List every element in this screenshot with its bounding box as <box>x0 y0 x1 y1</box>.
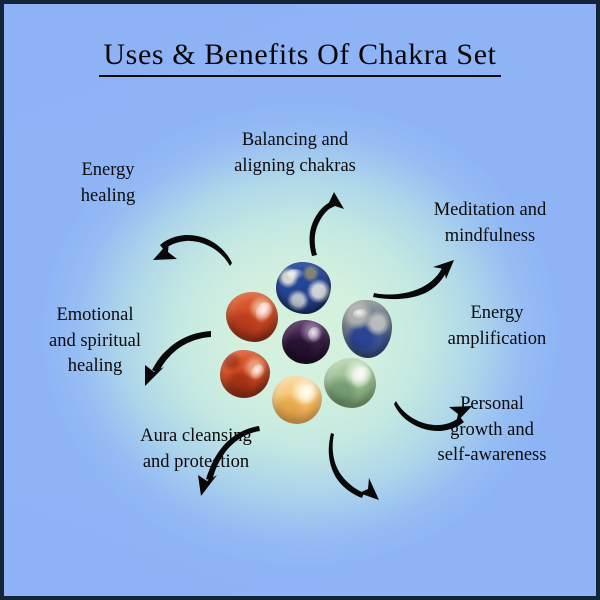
stone-highlight <box>287 269 304 280</box>
stone-highlight <box>248 362 266 383</box>
curved-arrow-up-icon <box>299 192 369 260</box>
lapis-lazuli-stone <box>276 262 331 314</box>
benefit-label-meditation: Meditation and mindfulness <box>397 198 583 249</box>
amethyst-stone <box>282 320 330 364</box>
stone-highlight <box>348 363 374 392</box>
stone-highlight <box>307 326 323 343</box>
page-title-container: Uses & Benefits Of Chakra Set <box>4 38 596 77</box>
chakra-benefits-infographic: Uses & Benefits Of Chakra Set <box>0 0 600 600</box>
benefit-label-emotional-healing: Emotional and spiritual healing <box>16 303 174 380</box>
chakra-stone-cluster <box>204 254 404 434</box>
stone-highlight <box>253 300 275 326</box>
green-aventurine-stone <box>324 358 376 408</box>
red-jasper-stone <box>226 292 278 342</box>
benefit-label-amplification: Energy amplification <box>412 301 582 352</box>
yellow-calcite-stone <box>272 376 322 424</box>
curved-arrow-down-right-icon <box>331 432 393 502</box>
sodalite-stone <box>342 300 392 358</box>
page-title: Uses & Benefits Of Chakra Set <box>99 38 500 77</box>
benefit-label-personal-growth: Personal growth and self-awareness <box>400 392 584 469</box>
benefit-label-energy-healing: Energy healing <box>34 158 182 209</box>
stone-highlight <box>297 383 319 407</box>
benefit-label-balancing: Balancing and aligning chakras <box>200 128 390 179</box>
benefit-label-aura-cleansing: Aura cleansing and protection <box>100 424 292 475</box>
carnelian-stone <box>220 350 270 398</box>
stone-highlight <box>353 309 368 319</box>
